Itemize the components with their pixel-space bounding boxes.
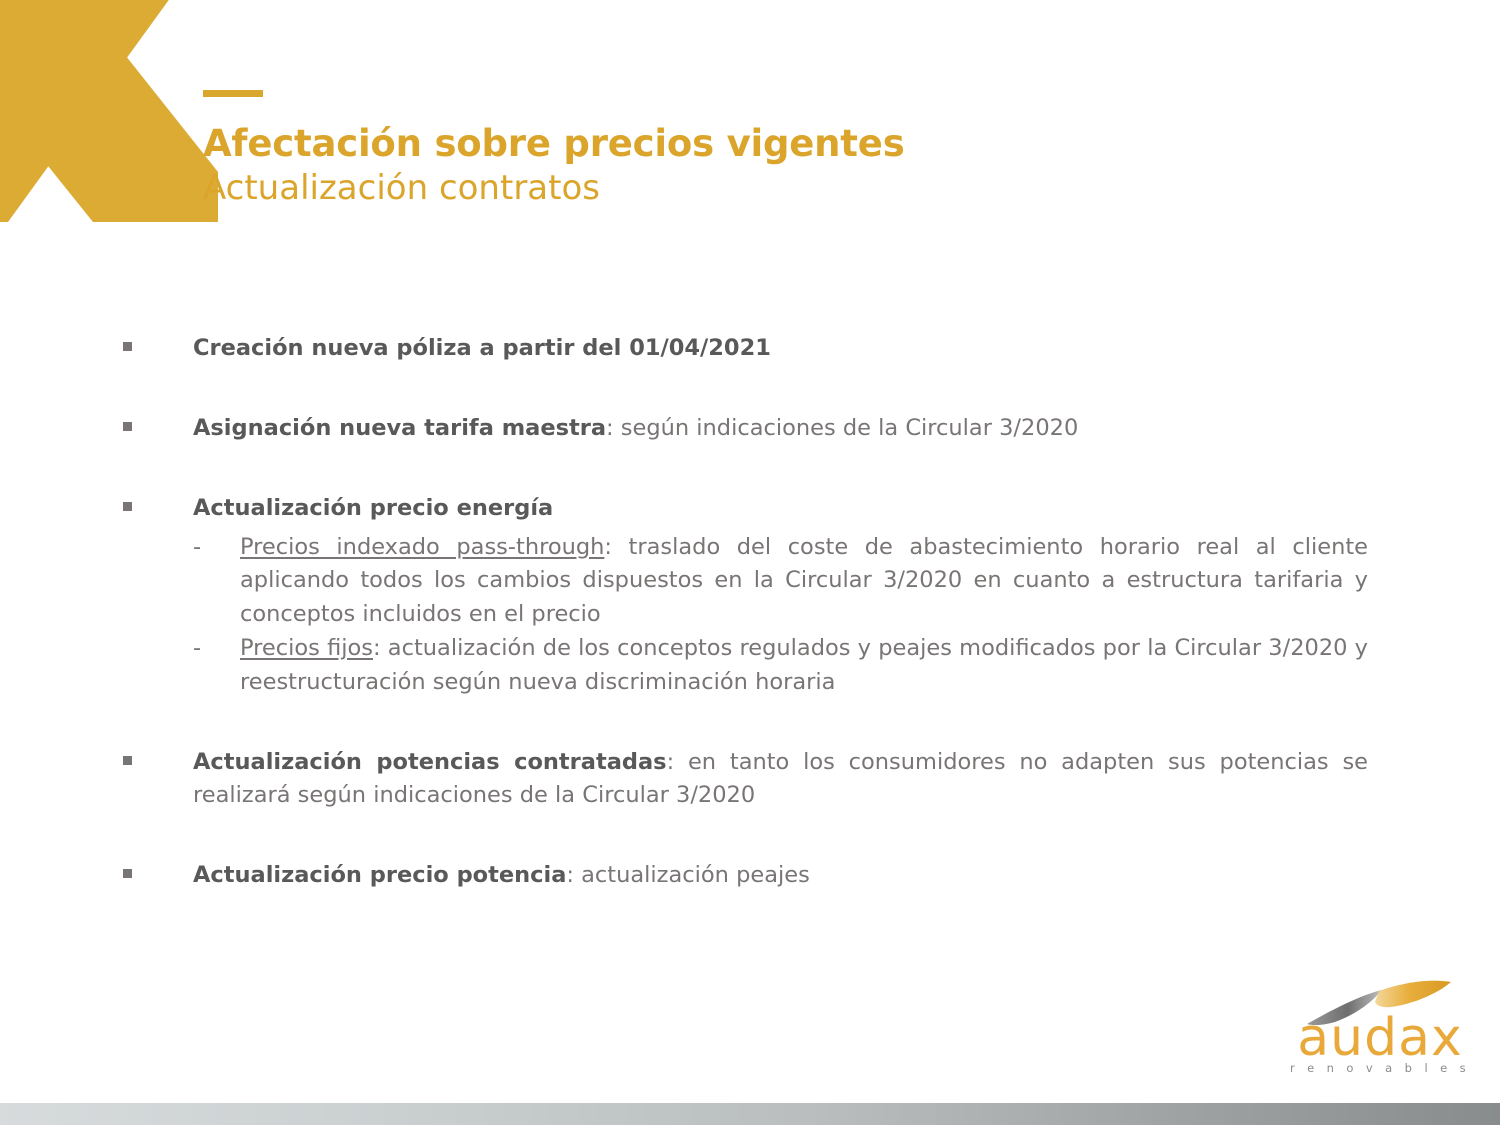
slide-body: Creación nueva póliza a partir del 01/04… — [0, 332, 1500, 892]
decorative-x-graphic — [0, 0, 218, 322]
bullet-item: Creación nueva póliza a partir del 01/04… — [0, 332, 1500, 365]
square-bullet-icon — [123, 869, 132, 878]
dash-bullet-icon: - — [193, 531, 201, 565]
square-bullet-icon — [123, 342, 132, 351]
bullet-lead: Actualización potencias contratadas — [193, 749, 667, 775]
bullet-lead: Actualización precio energía — [193, 495, 553, 521]
audax-logo: audax r e n o v a b l e s — [1287, 980, 1473, 1090]
dash-bullet-icon: - — [193, 632, 201, 666]
sub-bullet-term: Precios indexado pass-through — [240, 534, 604, 560]
footer-gradient-bar — [0, 1103, 1500, 1125]
square-bullet-icon — [123, 756, 132, 765]
sub-bullet-item: - Precios indexado pass-through: traslad… — [0, 531, 1368, 632]
bullet-item: Actualización potencias contratadas: en … — [0, 746, 1500, 812]
bullet-lead: Actualización precio potencia — [193, 862, 566, 888]
sub-bullet-item: - Precios fijos: actualización de los co… — [0, 632, 1368, 700]
bullet-lead: Creación nueva póliza a partir del 01/04… — [193, 335, 771, 361]
square-bullet-icon — [123, 422, 132, 431]
bullet-item: Asignación nueva tarifa maestra: según i… — [0, 412, 1500, 445]
sub-bullet-term: Precios fijos — [240, 635, 373, 661]
logo-wordmark: audax — [1287, 1012, 1473, 1064]
bullet-item: Actualización precio potencia: actualiza… — [0, 859, 1500, 892]
bullet-rest: : según indicaciones de la Circular 3/20… — [606, 415, 1078, 441]
page-title: Afectación sobre precios vigentes — [203, 123, 1103, 164]
sub-bullet-rest: : actualización de los conceptos regulad… — [240, 635, 1368, 695]
bullet-lead: Asignación nueva tarifa maestra — [193, 415, 606, 441]
slide-title-block: Afectación sobre precios vigentes Actual… — [203, 90, 1103, 209]
title-accent-rule — [203, 90, 263, 97]
bullet-item: Actualización precio energía — [0, 492, 1500, 525]
page-subtitle: Actualización contratos — [203, 168, 1103, 209]
square-bullet-icon — [123, 502, 132, 511]
logo-tagline: r e n o v a b l e s — [1287, 1063, 1473, 1075]
sub-bullet-list: - Precios indexado pass-through: traslad… — [0, 531, 1500, 700]
bullet-rest: : actualización peajes — [566, 862, 809, 888]
